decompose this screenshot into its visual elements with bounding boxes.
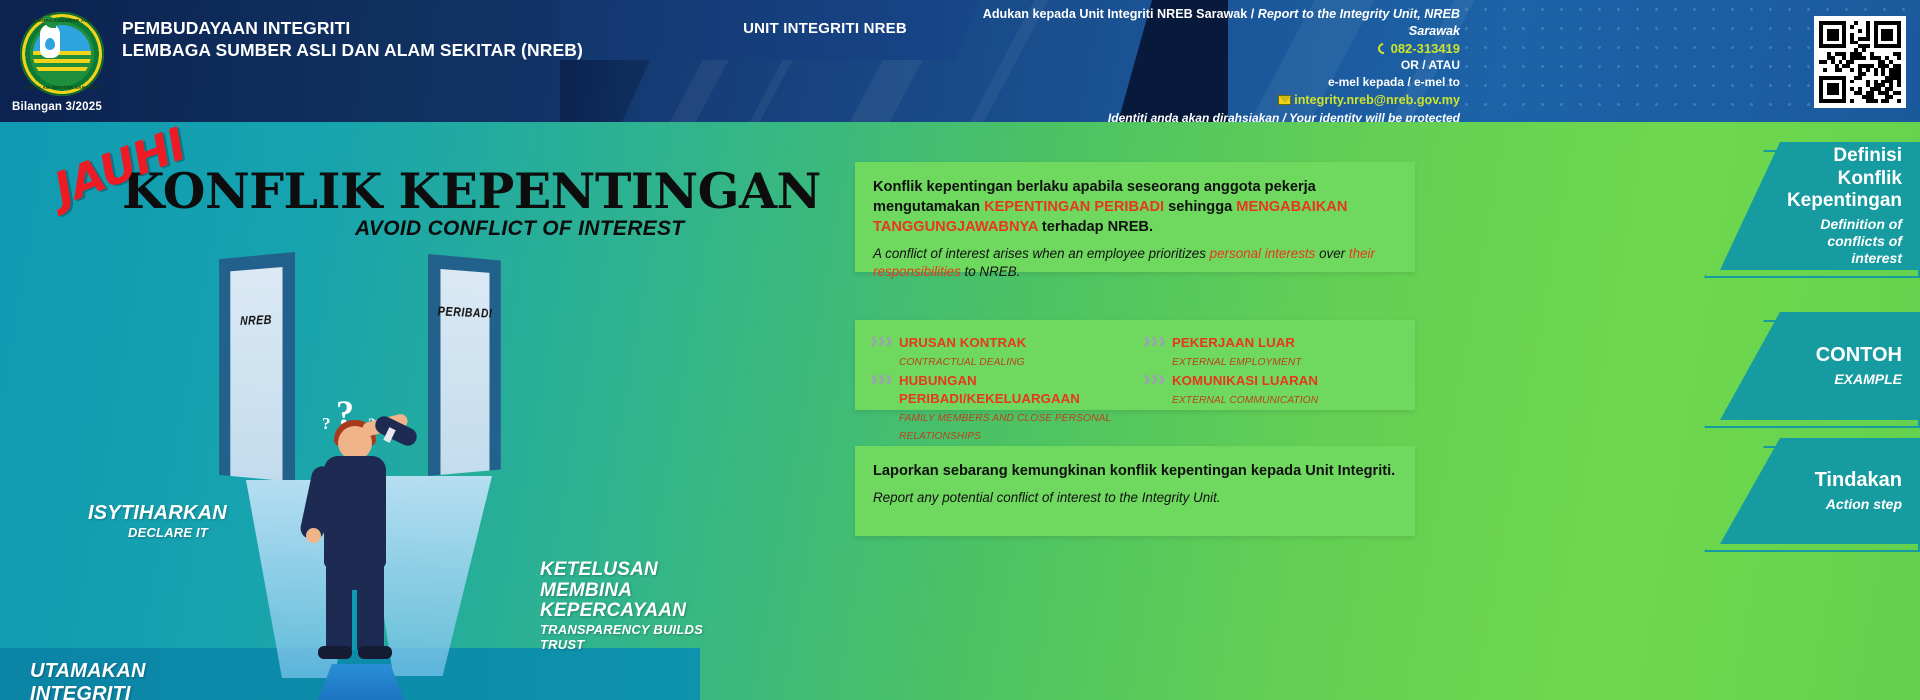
figure-left-shoe bbox=[318, 646, 352, 659]
contact-phone: 082-313419 bbox=[1391, 41, 1460, 56]
example-text: KOMUNIKASI LUARAN EXTERNAL COMMUNICATION bbox=[1172, 372, 1318, 408]
tab-example[interactable]: CONTOH EXAMPLE bbox=[1720, 312, 1920, 420]
contact-report-en: Report to the Integrity Unit, NREB Saraw… bbox=[1258, 7, 1460, 38]
figure-left-hand bbox=[306, 528, 321, 543]
tab-example-ms: CONTOH bbox=[1816, 344, 1902, 368]
caption-declare-en: DECLARE IT bbox=[88, 525, 208, 540]
plain-text: terhadap NREB. bbox=[1038, 219, 1153, 235]
phone-icon bbox=[1375, 41, 1390, 56]
caption-declare-ms: ISYTIHARKAN bbox=[88, 502, 208, 525]
tab-action-ms: Tindakan bbox=[1815, 469, 1902, 493]
contact-block: Adukan kepada Unit Integriti NREB Sarawa… bbox=[960, 6, 1460, 122]
plain-text: A conflict of interest arises when an em… bbox=[873, 246, 1210, 261]
contact-email: integrity.nreb@nreb.gov.my bbox=[1294, 93, 1460, 107]
example-ms: PEKERJAAN LUAR bbox=[1172, 335, 1295, 350]
organisation-title: PEMBUDAYAAN INTEGRITI LEMBAGA SUMBER ASL… bbox=[122, 17, 583, 62]
page-header: LEMBAGA SUMBER ASLI DAN ALAM SEKITAR SAR… bbox=[0, 0, 1920, 122]
example-ms: HUBUNGAN PERIBADI/KEKELUARGAAN bbox=[899, 373, 1080, 406]
door-peribadi: PERIBADI bbox=[428, 254, 501, 476]
org-line-2: LEMBAGA SUMBER ASLI DAN ALAM SEKITAR (NR… bbox=[122, 39, 583, 61]
contact-privacy-note: Identiti anda akan dirahsiakan / Your id… bbox=[960, 111, 1460, 122]
tab-action-en: Action step bbox=[1826, 496, 1902, 513]
definition-en: A conflict of interest arises when an em… bbox=[873, 245, 1397, 281]
highlight-text: personal interests bbox=[1210, 246, 1316, 261]
door-nreb: NREB bbox=[219, 252, 295, 482]
contact-phone-row[interactable]: 082-313419 bbox=[960, 40, 1460, 57]
tab-action[interactable]: Tindakan Action step bbox=[1720, 438, 1920, 544]
floor-glow bbox=[318, 664, 404, 700]
action-en: Report any potential conflict of interes… bbox=[873, 489, 1397, 507]
nreb-logo: LEMBAGA SUMBER ASLI DAN ALAM SEKITAR SAR… bbox=[20, 12, 104, 96]
door-right-panel bbox=[440, 269, 489, 475]
example-item: PEKERJAAN LUAR EXTERNAL EMPLOYMENT bbox=[1144, 334, 1399, 370]
qr-code[interactable] bbox=[1814, 16, 1906, 108]
contact-email-row[interactable]: integrity.nreb@nreb.gov.my bbox=[960, 92, 1460, 109]
doors-illustration: NREB PERIBADI ? ? ? ISYTIHARK bbox=[0, 232, 720, 700]
header-band-lower bbox=[560, 60, 650, 122]
examples-card: URUSAN KONTRAK CONTRACTUAL DEALING PEKER… bbox=[855, 320, 1415, 410]
issue-number: Bilangan 3/2025 bbox=[12, 101, 102, 113]
unit-title: UNIT INTEGRITI NREB bbox=[660, 20, 990, 37]
contact-report-ms: Adukan kepada Unit Integriti NREB Sarawa… bbox=[983, 7, 1258, 21]
logo-bottom-text: DAN ALAM SEKITAR SARAWAK bbox=[20, 85, 104, 90]
caption-trust-ms: KETELUSAN MEMBINA KEPERCAYAAN bbox=[540, 560, 740, 622]
door-right-label: PERIBADI bbox=[428, 304, 501, 321]
tab-example-en: EXAMPLE bbox=[1834, 371, 1902, 388]
tab-definition-ms: Definisi Konflik Kepentingan bbox=[1780, 145, 1902, 212]
logo-top-text: LEMBAGA SUMBER ASLI bbox=[20, 18, 104, 23]
chevron-icon bbox=[1144, 375, 1165, 384]
example-ms: KOMUNIKASI LUARAN bbox=[1172, 373, 1318, 388]
figure-leg-gap bbox=[352, 590, 357, 650]
tab-definition[interactable]: Definisi Konflik Kepentingan Definition … bbox=[1720, 142, 1920, 270]
definition-card: Konflik kepentingan berlaku apabila sese… bbox=[855, 162, 1415, 272]
org-line-1: PEMBUDAYAAN INTEGRITI bbox=[122, 17, 583, 39]
examples-grid: URUSAN KONTRAK CONTRACTUAL DEALING PEKER… bbox=[855, 320, 1415, 444]
example-en: EXTERNAL EMPLOYMENT bbox=[1172, 357, 1302, 368]
qr-code-pattern bbox=[1819, 21, 1901, 103]
example-text: HUBUNGAN PERIBADI/KEKELUARGAAN FAMILY ME… bbox=[899, 372, 1126, 444]
example-en: FAMILY MEMBERS AND CLOSE PERSONAL RELATI… bbox=[899, 413, 1111, 442]
caption-trust: KETELUSAN MEMBINA KEPERCAYAAN TRANSPAREN… bbox=[540, 560, 740, 652]
caption-integrity-ms: UTAMAKAN INTEGRITI bbox=[30, 660, 250, 700]
action-card: Laporkan sebarang kemungkinan konflik ke… bbox=[855, 446, 1415, 536]
poster-body: JAUHI KONFLIK KEPENTINGAN AVOID CONFLICT… bbox=[0, 122, 1920, 700]
action-ms: Laporkan sebarang kemungkinan konflik ke… bbox=[873, 462, 1397, 482]
definition-card-text: Konflik kepentingan berlaku apabila sese… bbox=[855, 162, 1415, 281]
page-title: KONFLIK KEPENTINGAN bbox=[122, 162, 821, 220]
caption-declare: ISYTIHARKAN DECLARE IT bbox=[88, 502, 208, 540]
example-text: URUSAN KONTRAK CONTRACTUAL DEALING bbox=[899, 334, 1026, 370]
contact-report-line: Adukan kepada Unit Integriti NREB Sarawa… bbox=[960, 6, 1460, 39]
door-left-label: NREB bbox=[219, 312, 295, 329]
example-item: HUBUNGAN PERIBADI/KEKELUARGAAN FAMILY ME… bbox=[871, 372, 1126, 444]
chevron-icon bbox=[871, 337, 892, 346]
highlight-text: KEPENTINGAN PERIBADI bbox=[984, 199, 1164, 215]
logo-water-drop-icon bbox=[45, 38, 55, 50]
chevron-icon bbox=[1144, 337, 1165, 346]
example-text: PEKERJAAN LUAR EXTERNAL EMPLOYMENT bbox=[1172, 334, 1302, 370]
example-en: CONTRACTUAL DEALING bbox=[899, 357, 1025, 368]
caption-trust-en: TRANSPARENCY BUILDS TRUST bbox=[540, 622, 740, 652]
plain-text: to NREB. bbox=[961, 264, 1021, 279]
example-item: URUSAN KONTRAK CONTRACTUAL DEALING bbox=[871, 334, 1126, 370]
plain-text: sehingga bbox=[1164, 199, 1236, 215]
chevron-icon bbox=[871, 375, 892, 384]
contact-or: OR / ATAU bbox=[960, 58, 1460, 74]
example-ms: URUSAN KONTRAK bbox=[899, 335, 1026, 350]
plain-text: over bbox=[1315, 246, 1349, 261]
contact-email-label: e-mel kepada / e-mel to bbox=[960, 75, 1460, 91]
figure-right-shoe bbox=[358, 646, 392, 659]
example-item: KOMUNIKASI LUARAN EXTERNAL COMMUNICATION bbox=[1144, 372, 1399, 444]
example-en: EXTERNAL COMMUNICATION bbox=[1172, 395, 1318, 406]
action-card-text: Laporkan sebarang kemungkinan konflik ke… bbox=[855, 446, 1415, 507]
businessman-figure bbox=[300, 404, 418, 666]
tab-definition-en: Definition of conflicts of interest bbox=[1780, 216, 1902, 266]
caption-integrity: UTAMAKAN INTEGRITI INTEGRITY FIRST bbox=[30, 660, 250, 700]
door-left-panel bbox=[230, 267, 282, 481]
definition-ms: Konflik kepentingan berlaku apabila sese… bbox=[873, 178, 1397, 238]
envelope-icon bbox=[1278, 95, 1291, 105]
